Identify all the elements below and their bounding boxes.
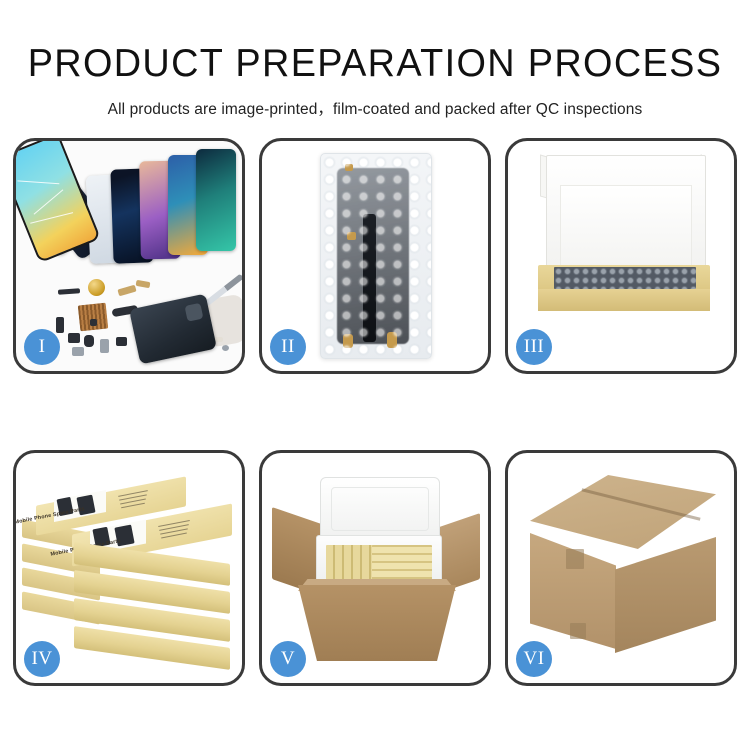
inner-box-front-wall [538,289,710,311]
panel-badge-4: IV [24,641,60,677]
page-header: PRODUCT PREPARATION PROCESS All products… [0,0,750,119]
process-panel-5: V [259,450,491,686]
panel-badge-1: I [24,329,60,365]
small-part [136,280,151,288]
small-part [117,285,136,297]
small-part [56,317,64,333]
small-part [68,333,80,343]
crack-line [30,212,73,224]
crack-line [17,180,59,184]
carton-tape-upper [566,549,584,569]
product-preparation-page: PRODUCT PREPARATION PROCESS All products… [0,0,750,750]
gold-connector [345,164,353,171]
carton-tape-lower [570,623,586,639]
panel-2-illustration: II [262,141,488,371]
process-panel-4: Mobile Phone Spare Parts Mobile Phone Sp… [13,450,245,686]
panel-1-illustration: I [16,141,242,371]
small-part [72,347,84,356]
gold-connector [387,332,397,348]
small-part [222,345,229,351]
copper-grid-component [78,303,109,332]
small-part [58,288,80,295]
crack-line [34,189,64,214]
process-panel-2: II [259,138,491,374]
box-stack: Mobile Phone Spare Parts Mobile Phone Sp… [18,469,242,669]
small-part [84,335,94,347]
panel-4-illustration: Mobile Phone Spare Parts Mobile Phone Sp… [16,453,242,683]
panel-badge-2: II [270,329,306,365]
process-panel-6: VI [505,450,737,686]
process-panel-1: I [13,138,245,374]
panel-badge-6: VI [516,641,552,677]
page-title: PRODUCT PREPARATION PROCESS [11,0,739,86]
carton-body [298,585,456,661]
panel-badge-5: V [270,641,306,677]
carton-top-face [530,475,716,549]
foam-cooler-lid [320,477,440,541]
gold-connector [347,232,356,240]
panel-3-illustration: III [508,141,734,371]
small-part [90,319,97,326]
panel-6-illustration: VI [508,453,734,683]
phone-display-teal [196,149,236,251]
phone-back-housing [129,294,217,365]
phone-display-fan [88,149,238,267]
bubble-padding-inside [554,267,696,289]
small-part [100,339,109,353]
flex-cable [363,214,376,342]
panel-badge-3: III [516,329,552,365]
speaker-coil-component [88,279,105,296]
carton-right-face [615,537,716,653]
page-subtitle: All products are image-printed，film-coat… [0,86,750,119]
panel-5-illustration: V [262,453,488,683]
small-part [116,337,127,346]
bubble-wrap-bag [320,153,432,359]
process-panel-3: III [505,138,737,374]
process-panel-grid: I II [13,138,737,686]
foam-liner [560,185,692,269]
gold-connector [343,334,353,348]
